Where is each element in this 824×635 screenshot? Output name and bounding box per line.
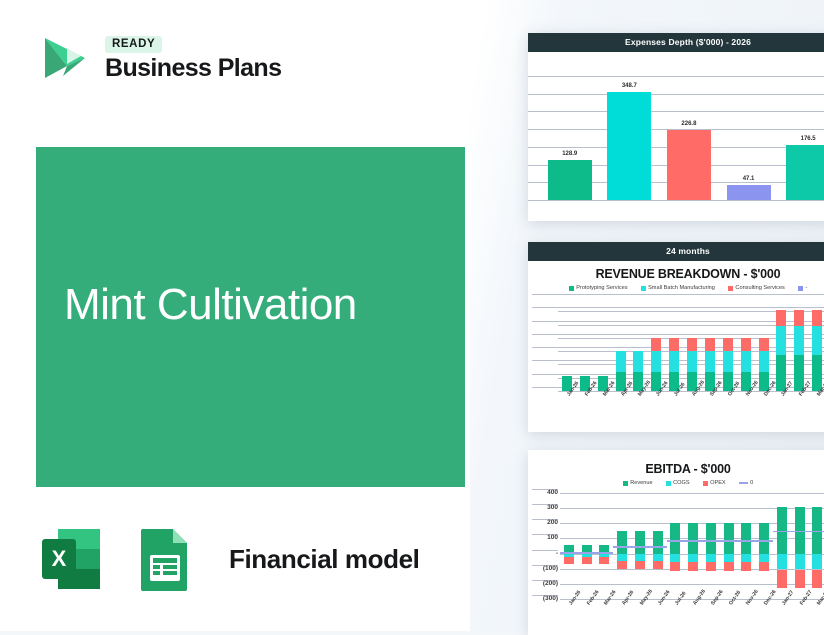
revenue-chart-banner: 24 months: [528, 242, 824, 261]
expenses-bar: [667, 130, 711, 200]
ebitda-y-tick: 200: [532, 519, 558, 520]
ebitda-y-tick: (300): [532, 595, 558, 596]
ebitda-opex-bar: [564, 557, 574, 564]
revenue-stack-segment: [651, 338, 661, 351]
ebitda-y-tick: (100): [532, 565, 558, 566]
ebitda-opex-bar: [759, 562, 769, 571]
google-sheets-icon: [127, 521, 203, 597]
legend-label: OPEX: [710, 480, 726, 486]
ebitda-opex-bar: [582, 557, 592, 564]
revenue-stack-segment: [759, 338, 769, 351]
revenue-stack-segment: [669, 338, 679, 351]
expenses-bar-value: 176.5: [786, 136, 824, 142]
ebitda-revenue-bar: [635, 531, 645, 554]
legend-line-swatch: [739, 482, 748, 484]
ebitda-opex-bar: [635, 561, 645, 568]
ebitda-zero-line-segment: [755, 540, 773, 542]
ebitda-opex-bar: [670, 562, 680, 571]
ebitda-zero-line-segment: [809, 531, 824, 533]
expenses-bar-value: 47.1: [727, 176, 771, 182]
ebitda-opex-bar: [617, 561, 627, 568]
legend-color-swatch: [641, 286, 646, 291]
ebitda-zero-line-segment: [578, 552, 596, 554]
expenses-bar: [727, 185, 771, 200]
ebitda-zero-line-segment: [560, 552, 578, 554]
ebitda-opex-bar: [688, 562, 698, 571]
expenses-bar-value: 348.7: [607, 83, 651, 89]
ebitda-opex-bar: [812, 570, 822, 588]
ebitda-cogs-bar: [795, 554, 805, 570]
revenue-stack-segment: [687, 351, 697, 372]
legend-color-swatch: [666, 481, 671, 486]
ebitda-revenue-bar: [724, 523, 734, 553]
ebitda-zero-line-segment: [773, 531, 791, 533]
chart-card-expenses: Expenses Depth ($'000) - 2026 128.9348.7…: [528, 33, 824, 221]
revenue-stack-segment: [633, 351, 643, 372]
revenue-stack-segment: [776, 310, 786, 326]
ebitda-zero-line-segment: [684, 540, 702, 542]
ebitda-revenue-bar: [688, 523, 698, 553]
legend-color-swatch: [569, 286, 574, 291]
revenue-stack-segment: [616, 351, 626, 372]
revenue-stack-segment: [723, 351, 733, 372]
expenses-bar-value: 128.9: [548, 151, 592, 157]
legend-color-swatch: [798, 286, 803, 291]
legend-label: Prototyping Services: [576, 285, 627, 291]
ebitda-y-tick: 300: [532, 504, 558, 505]
revenue-stack-segment: [723, 338, 733, 351]
ebitda-legend-item: OPEX: [703, 480, 726, 486]
revenue-stack-segment: [687, 338, 697, 351]
legend-label: Small Batch Manufacturing: [648, 285, 715, 291]
ebitda-revenue-bar: [653, 531, 663, 554]
ebitda-zero-line-segment: [613, 546, 631, 548]
brand-lockup: READY Business Plans: [33, 26, 281, 88]
legend-color-swatch: [728, 286, 733, 291]
revenue-legend-item: Small Batch Manufacturing: [641, 285, 715, 291]
revenue-y-tick: 350: [532, 294, 824, 295]
ebitda-revenue-bar: [759, 523, 769, 553]
footer-formats: X Financial model: [34, 521, 420, 597]
ebitda-cogs-bar: [777, 554, 787, 570]
revenue-chart-title: REVENUE BREAKDOWN - $'000: [528, 261, 824, 283]
legend-label: 0: [750, 480, 753, 486]
revenue-legend-item: -: [798, 285, 807, 291]
expenses-chart-title: Expenses Depth ($'000) - 2026: [528, 33, 824, 52]
ebitda-cogs-bar: [812, 554, 822, 570]
ebitda-zero-line-segment: [667, 540, 685, 542]
ebitda-y-tick: (200): [532, 580, 558, 581]
gridline: [528, 76, 824, 77]
expenses-bar: [548, 160, 592, 200]
cover-title-block: Mint Cultivation: [36, 147, 465, 487]
revenue-stack-segment: [669, 351, 679, 372]
ebitda-cogs-bar: [759, 554, 769, 562]
gridline: [560, 493, 824, 494]
svg-text:X: X: [52, 546, 67, 571]
revenue-legend-item: Prototyping Services: [569, 285, 628, 291]
revenue-stack-segment: [705, 351, 715, 372]
ebitda-cogs-bar: [653, 554, 663, 562]
ebitda-cogs-bar: [617, 554, 627, 562]
revenue-y-tick: 300: [532, 307, 824, 308]
gridline: [528, 111, 824, 112]
ebitda-zero-line-segment: [596, 552, 614, 554]
microsoft-excel-icon: X: [34, 521, 110, 597]
ebitda-cogs-bar: [688, 554, 698, 562]
ebitda-zero-line-segment: [791, 531, 809, 533]
ebitda-chart-plot: 400300200100-(100)(200)(300)Jan-26Feb-26…: [528, 489, 824, 629]
revenue-stack-segment: [794, 326, 804, 355]
revenue-chart-legend: Prototyping ServicesSmall Batch Manufact…: [528, 283, 824, 294]
ebitda-cogs-bar: [741, 554, 751, 562]
ebitda-opex-bar: [795, 570, 805, 588]
revenue-stack-segment: [705, 338, 715, 351]
ebitda-opex-bar: [653, 561, 663, 568]
ebitda-opex-bar: [777, 570, 787, 588]
revenue-stack-segment: [741, 338, 751, 351]
legend-label: Consulting Services: [735, 285, 784, 291]
expenses-bar: [607, 92, 651, 200]
ebitda-chart-legend: RevenueCOGSOPEX0: [528, 478, 824, 489]
legend-label: COGS: [673, 480, 689, 486]
ebitda-cogs-bar: [670, 554, 680, 562]
ebitda-zero-line-segment: [631, 546, 649, 548]
chart-card-revenue: 24 months REVENUE BREAKDOWN - $'000 Prot…: [528, 242, 824, 432]
ebitda-revenue-bar: [706, 523, 716, 553]
ebitda-chart-title: EBITDA - $'000: [528, 450, 824, 478]
expenses-bar-value: 226.8: [667, 121, 711, 127]
gridline: [528, 94, 824, 95]
expenses-bar: [786, 145, 824, 200]
gridline: [528, 200, 824, 201]
ebitda-legend-item: Revenue: [623, 480, 653, 486]
ebitda-y-tick: 400: [532, 489, 558, 490]
ready-badge: READY: [105, 36, 162, 53]
page-title: Mint Cultivation: [64, 280, 357, 330]
revenue-chart-plot: 35030025020015010050-Jan-26Feb-26Mar-26A…: [528, 294, 824, 419]
revenue-stack-segment: [759, 351, 769, 372]
ebitda-legend-item: COGS: [666, 480, 690, 486]
ebitda-zero-line-segment: [738, 540, 756, 542]
ebitda-legend-item: 0: [739, 480, 754, 486]
legend-label: -: [805, 285, 807, 291]
revenue-stack-segment: [812, 326, 822, 355]
expenses-chart-plot: 128.9348.7226.847.1176.5: [528, 52, 824, 212]
revenue-stack-segment: [741, 351, 751, 372]
legend-color-swatch: [623, 481, 628, 486]
ebitda-opex-bar: [599, 557, 609, 564]
ebitda-cogs-bar: [635, 554, 645, 562]
ebitda-y-tick: -: [532, 550, 558, 551]
ebitda-revenue-bar: [617, 531, 627, 554]
ebitda-revenue-bar: [670, 523, 680, 553]
ebitda-opex-bar: [724, 562, 734, 571]
ebitda-revenue-bar: [741, 523, 751, 553]
legend-label: Revenue: [630, 480, 652, 486]
revenue-stack-segment: [651, 351, 661, 372]
ebitda-y-tick: 100: [532, 534, 558, 535]
revenue-legend-item: Consulting Services: [728, 285, 785, 291]
legend-color-swatch: [703, 481, 708, 486]
ebitda-zero-line-segment: [702, 540, 720, 542]
footer-label: Financial model: [229, 544, 420, 575]
chart-card-ebitda: EBITDA - $'000 RevenueCOGSOPEX0 40030020…: [528, 450, 824, 635]
brand-name: Business Plans: [105, 56, 281, 81]
play-triangle-logo-icon: [33, 26, 95, 88]
ebitda-opex-bar: [741, 562, 751, 571]
revenue-stack-segment: [776, 326, 786, 355]
ebitda-zero-line-segment: [720, 540, 738, 542]
revenue-stack-segment: [812, 310, 822, 326]
ebitda-zero-line-segment: [649, 546, 667, 548]
ebitda-cogs-bar: [724, 554, 734, 562]
ebitda-opex-bar: [706, 562, 716, 571]
revenue-stack-segment: [794, 310, 804, 326]
ebitda-cogs-bar: [706, 554, 716, 562]
